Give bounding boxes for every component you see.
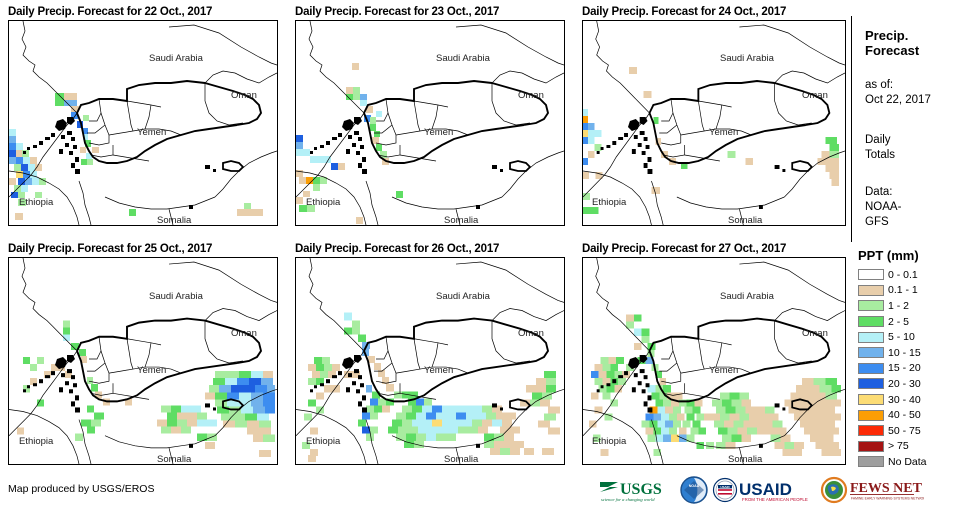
legend-label: No Data (888, 456, 927, 468)
legend-row: > 75 (858, 439, 966, 455)
map-frame[interactable]: Saudi Arabia Oman Yemen Ethiopia Somalia (295, 20, 565, 226)
map-panel-23-oct: Daily Precip. Forecast for 23 Oct., 2017 (295, 4, 565, 226)
legend-swatch (858, 363, 884, 374)
legend-row: 40 - 50 (858, 407, 966, 423)
legend-swatch (858, 394, 884, 405)
legend-swatch (858, 441, 884, 452)
map-panel-27-oct: Daily Precip. Forecast for 27 Oct., 2017 (582, 241, 852, 465)
map-frame[interactable]: Saudi Arabia Oman Yemen Ethiopia Somalia (295, 257, 565, 465)
legend-swatch (858, 425, 884, 436)
legend-label: 30 - 40 (888, 394, 921, 406)
map-canvas (583, 258, 845, 464)
map-frame[interactable]: Saudi Arabia Oman Yemen Ethiopia Somalia (582, 257, 846, 465)
map-canvas (9, 21, 277, 225)
svg-text:FAMINE EARLY WARNING SYSTEMS N: FAMINE EARLY WARNING SYSTEMS NETWORK (851, 497, 924, 501)
legend-label: 0.1 - 1 (888, 284, 918, 296)
panel-title: Daily Precip. Forecast for 22 Oct., 2017 (8, 4, 278, 20)
sidebar-totals-line2: Totals (865, 148, 895, 163)
legend-swatch (858, 316, 884, 327)
legend-row: 5 - 10 (858, 329, 966, 345)
svg-text:FROM THE AMERICAN PEOPLE: FROM THE AMERICAN PEOPLE (742, 497, 808, 502)
map-panel-24-oct: Daily Precip. Forecast for 24 Oct., 2017 (582, 4, 852, 226)
fewsnet-logo: FEWS NET FAMINE EARLY WARNING SYSTEMS NE… (820, 476, 924, 504)
legend-swatch (858, 347, 884, 358)
sidebar-data-line1: NOAA- (865, 200, 901, 215)
legend-label: 20 - 30 (888, 378, 921, 390)
svg-text:FEWS NET: FEWS NET (850, 481, 923, 496)
legend-swatch (858, 456, 884, 467)
map-canvas (296, 21, 564, 225)
sidebar-title-line2: Forecast (865, 43, 919, 58)
panel-title: Daily Precip. Forecast for 24 Oct., 2017 (582, 4, 852, 20)
legend-row: 1 - 2 (858, 298, 966, 314)
legend-label: 1 - 2 (888, 300, 909, 312)
map-canvas (9, 258, 277, 464)
sidebar-as-of-date: Oct 22, 2017 (865, 93, 931, 108)
svg-text:USGS: USGS (620, 481, 662, 498)
sidebar-divider (851, 16, 852, 242)
panel-title: Daily Precip. Forecast for 25 Oct., 2017 (8, 241, 278, 257)
sidebar-totals-line1: Daily (865, 133, 891, 148)
panel-title: Daily Precip. Forecast for 27 Oct., 2017 (582, 241, 852, 257)
panel-title: Daily Precip. Forecast for 23 Oct., 2017 (295, 4, 565, 20)
map-canvas (583, 21, 845, 225)
panel-title: Daily Precip. Forecast for 26 Oct., 2017 (295, 241, 565, 257)
map-canvas (296, 258, 564, 464)
map-panel-22-oct: Daily Precip. Forecast for 22 Oct., 2017 (8, 4, 278, 226)
legend-label: 15 - 20 (888, 362, 921, 374)
legend-row: 15 - 20 (858, 361, 966, 377)
legend-row: 10 - 15 (858, 345, 966, 361)
sidebar-data-line2: GFS (865, 215, 889, 230)
legend-row: 50 - 75 (858, 423, 966, 439)
legend-label: 0 - 0.1 (888, 269, 918, 281)
precipitation-legend: PPT (mm) 0 - 0.10.1 - 11 - 22 - 55 - 101… (858, 248, 966, 470)
map-frame[interactable]: Saudi Arabia Oman Yemen Ethiopia Somalia (8, 20, 278, 226)
legend-label: 50 - 75 (888, 425, 921, 437)
legend-swatch (858, 410, 884, 421)
legend-row: 0 - 0.1 (858, 267, 966, 283)
legend-swatch (858, 332, 884, 343)
noaa-logo: NOAA (680, 476, 708, 504)
legend-label: 40 - 50 (888, 409, 921, 421)
map-credit: Map produced by USGS/EROS (8, 483, 154, 495)
legend-swatch (858, 378, 884, 389)
legend-row: 0.1 - 1 (858, 283, 966, 299)
map-frame[interactable]: Saudi Arabia Oman Yemen Ethiopia Somalia (582, 20, 846, 226)
usgs-logo: USGS science for a changing world (598, 477, 676, 503)
svg-text:science for a changing world: science for a changing world (601, 497, 655, 502)
sidebar-title-line1: Precip. (865, 28, 908, 43)
map-frame[interactable]: Saudi Arabia Oman Yemen Ethiopia Somalia (8, 257, 278, 465)
precipitation-forecast-map-figure: Daily Precip. Forecast for 22 Oct., 2017 (0, 0, 967, 511)
legend-row: 2 - 5 (858, 314, 966, 330)
sidebar-data-label: Data: (865, 185, 893, 200)
legend-label: 2 - 5 (888, 316, 909, 328)
legend-label: 5 - 10 (888, 331, 915, 343)
map-panel-25-oct: Daily Precip. Forecast for 25 Oct., 2017 (8, 241, 278, 465)
legend-row: 20 - 30 (858, 376, 966, 392)
map-panel-26-oct: Daily Precip. Forecast for 26 Oct., 2017 (295, 241, 565, 465)
legend-swatch (858, 285, 884, 296)
legend-row: No Data (858, 454, 966, 470)
sidebar-as-of-label: as of: (865, 78, 893, 93)
legend-swatch (858, 300, 884, 311)
legend-row: 30 - 40 (858, 392, 966, 408)
legend-title: PPT (mm) (858, 248, 966, 264)
agency-logos: USGS science for a changing world NOAA (598, 472, 924, 508)
svg-text:NOAA: NOAA (689, 484, 700, 488)
legend-label: 10 - 15 (888, 347, 921, 359)
svg-text:USAID: USAID (720, 485, 730, 489)
legend-swatch (858, 269, 884, 280)
legend-label: > 75 (888, 440, 909, 452)
usaid-logo: USAID USAID FROM THE AMERICAN PEOPLE (712, 476, 816, 504)
